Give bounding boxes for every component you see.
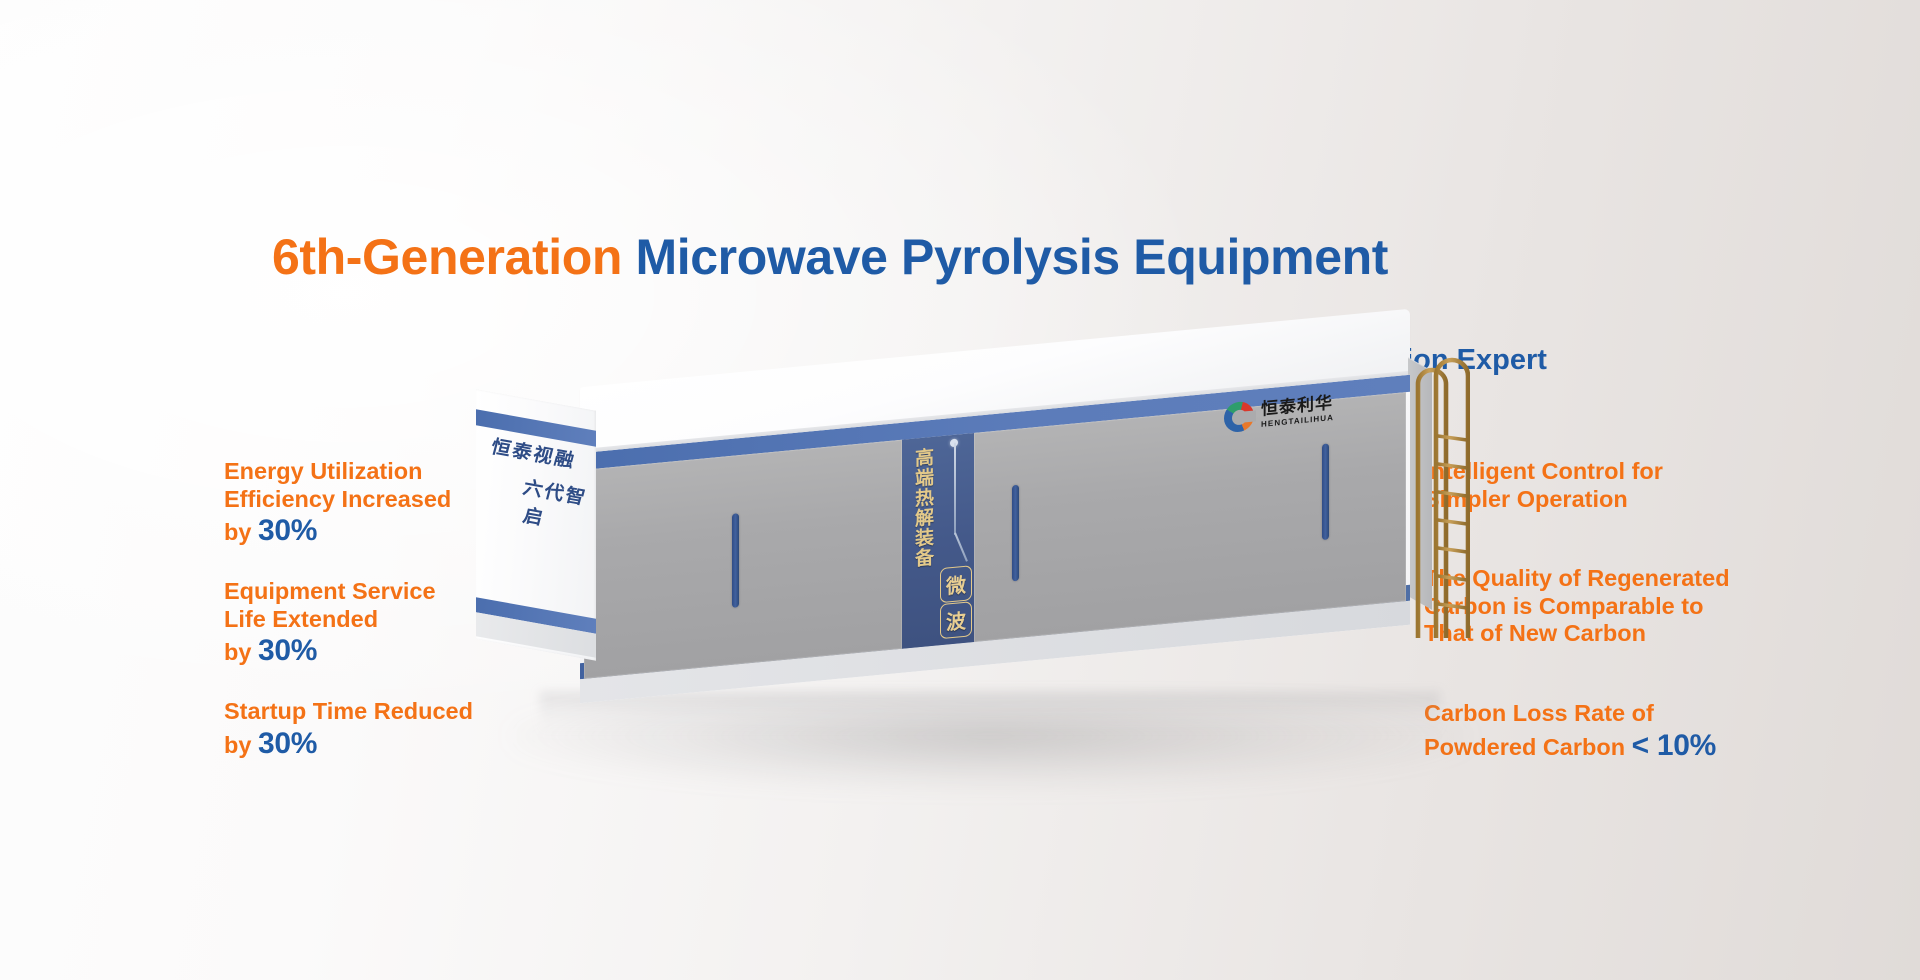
feature-stat-lead: by xyxy=(224,519,251,545)
feature-line-1: Equipment Service xyxy=(224,578,436,606)
product-image-microwave-pyrolysis-unit: 高端热解装备 微 波 恒泰利华 HENGTAILIHUA xyxy=(480,400,1480,800)
product-floor-reflection xyxy=(540,692,1440,736)
unit-door-right[interactable]: 恒泰利华 HENGTAILIHUA xyxy=(974,392,1406,642)
feature-stat-value: 30% xyxy=(258,634,317,667)
feature-stat: by 30% xyxy=(224,513,451,548)
page-title-main: Microwave Pyrolysis Equipment xyxy=(636,229,1389,285)
feature-stat: by 30% xyxy=(224,726,473,761)
hengtailihua-logo-icon xyxy=(1224,401,1254,434)
page-title: 6th-Generation Microwave Pyrolysis Equip… xyxy=(272,232,1388,282)
antenna-diagonal-icon xyxy=(954,532,968,561)
unit-door-left[interactable] xyxy=(584,440,902,679)
feature-line-1: Startup Time Reduced xyxy=(224,698,473,726)
unit-center-branding-panel: 高端热解装备 微 波 xyxy=(902,433,974,649)
brand-logo-text: 恒泰利华 HENGTAILIHUA xyxy=(1261,394,1334,428)
feature-line-2: Efficiency Increased xyxy=(224,486,451,514)
feature-callout-energy-efficiency: Energy Utilization Efficiency Increased … xyxy=(224,458,451,549)
feature-stat-value: < 10% xyxy=(1632,729,1716,762)
page-title-highlight: 6th-Generation xyxy=(272,229,622,285)
poster-canvas: 6th-Generation Microwave Pyrolysis Equip… xyxy=(0,0,1920,980)
door-handle-icon[interactable] xyxy=(1322,443,1329,540)
calligraphy-line-2: 六代智启 xyxy=(488,466,600,543)
feature-stat-lead: by xyxy=(224,732,251,758)
antenna-line-icon xyxy=(954,443,956,535)
center-panel-vertical-text: 高端热解装备 xyxy=(908,447,934,569)
feature-callout-startup-time: Startup Time Reduced by 30% xyxy=(224,698,473,761)
access-ladder xyxy=(1396,338,1470,638)
feature-line-1: Energy Utilization xyxy=(224,458,451,486)
feature-stat-value: 30% xyxy=(258,727,317,760)
ladder-icon xyxy=(1396,338,1470,638)
feature-stat-lead: by xyxy=(224,639,251,665)
feature-callout-service-life: Equipment Service Life Extended by 30% xyxy=(224,578,436,669)
door-handle-icon[interactable] xyxy=(1012,485,1019,582)
unit-end-cap-calligraphy: 恒泰视融 六代智启 xyxy=(488,432,600,602)
microwave-badge-char-1: 微 xyxy=(940,565,972,603)
feature-stat-value: 30% xyxy=(258,514,317,547)
feature-stat: by 30% xyxy=(224,633,436,668)
door-handle-icon[interactable] xyxy=(732,513,739,608)
microwave-badge-char-2: 波 xyxy=(940,601,972,639)
feature-line-2: Life Extended xyxy=(224,606,436,634)
